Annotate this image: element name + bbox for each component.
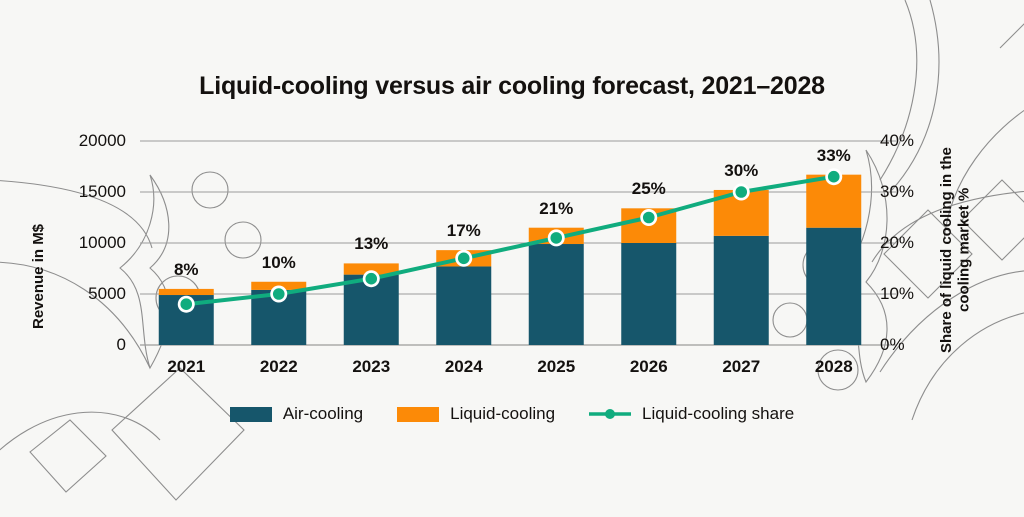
share-value-label: 33% (789, 146, 879, 166)
legend-label-liquid-cooling-share: Liquid-cooling share (642, 404, 794, 424)
x-axis-tick-label-2024: 2024 (419, 357, 509, 377)
share-value-label: 30% (696, 161, 786, 181)
share-marker[interactable] (550, 232, 562, 244)
share-value-label: 25% (604, 179, 694, 199)
share-marker[interactable] (273, 288, 285, 300)
bar-segment-air-cooling[interactable] (436, 266, 491, 345)
bar-segment-air-cooling[interactable] (714, 236, 769, 345)
chart-page: Liquid-cooling versus air cooling foreca… (0, 0, 1024, 512)
share-marker[interactable] (735, 186, 747, 198)
share-value-label: 8% (141, 260, 231, 280)
share-value-label: 17% (419, 221, 509, 241)
chart-legend: Air-cooling Liquid-cooling Liquid-coolin… (0, 404, 1024, 424)
share-marker[interactable] (828, 171, 840, 183)
share-marker[interactable] (458, 252, 470, 264)
share-value-label: 21% (511, 199, 601, 219)
legend-label-air-cooling: Air-cooling (283, 404, 363, 424)
x-axis-tick-label-2025: 2025 (511, 357, 601, 377)
legend-swatch-liquid-cooling (397, 407, 439, 422)
x-axis-tick-label-2023: 2023 (326, 357, 416, 377)
share-marker[interactable] (643, 212, 655, 224)
y-axis-left-title: Revenue in M$ (30, 196, 47, 356)
legend-swatch-air-cooling (230, 407, 272, 422)
share-value-label: 13% (326, 234, 416, 254)
share-marker[interactable] (180, 298, 192, 310)
plot-area (0, 0, 1024, 512)
bar-segment-air-cooling[interactable] (529, 244, 584, 345)
legend-item-liquid-cooling-share[interactable]: Liquid-cooling share (589, 404, 794, 424)
legend-item-liquid-cooling[interactable]: Liquid-cooling (397, 404, 555, 424)
x-axis-tick-label-2028: 2028 (789, 357, 879, 377)
bar-segment-liquid-cooling[interactable] (159, 289, 214, 295)
y-axis-right-title: Share of liquid cooling in the cooling m… (938, 140, 973, 360)
x-axis-tick-label-2022: 2022 (234, 357, 324, 377)
y-axis-left-tick-label: 20000 (26, 131, 126, 151)
x-axis-tick-label-2021: 2021 (141, 357, 231, 377)
bar-segment-air-cooling[interactable] (806, 228, 861, 345)
legend-marker-line-dot-icon (589, 407, 631, 421)
x-axis-tick-label-2026: 2026 (604, 357, 694, 377)
legend-label-liquid-cooling: Liquid-cooling (450, 404, 555, 424)
share-marker[interactable] (365, 273, 377, 285)
share-value-label: 10% (234, 253, 324, 273)
x-axis-tick-label-2027: 2027 (696, 357, 786, 377)
legend-item-air-cooling[interactable]: Air-cooling (230, 404, 363, 424)
bar-segment-air-cooling[interactable] (621, 243, 676, 345)
